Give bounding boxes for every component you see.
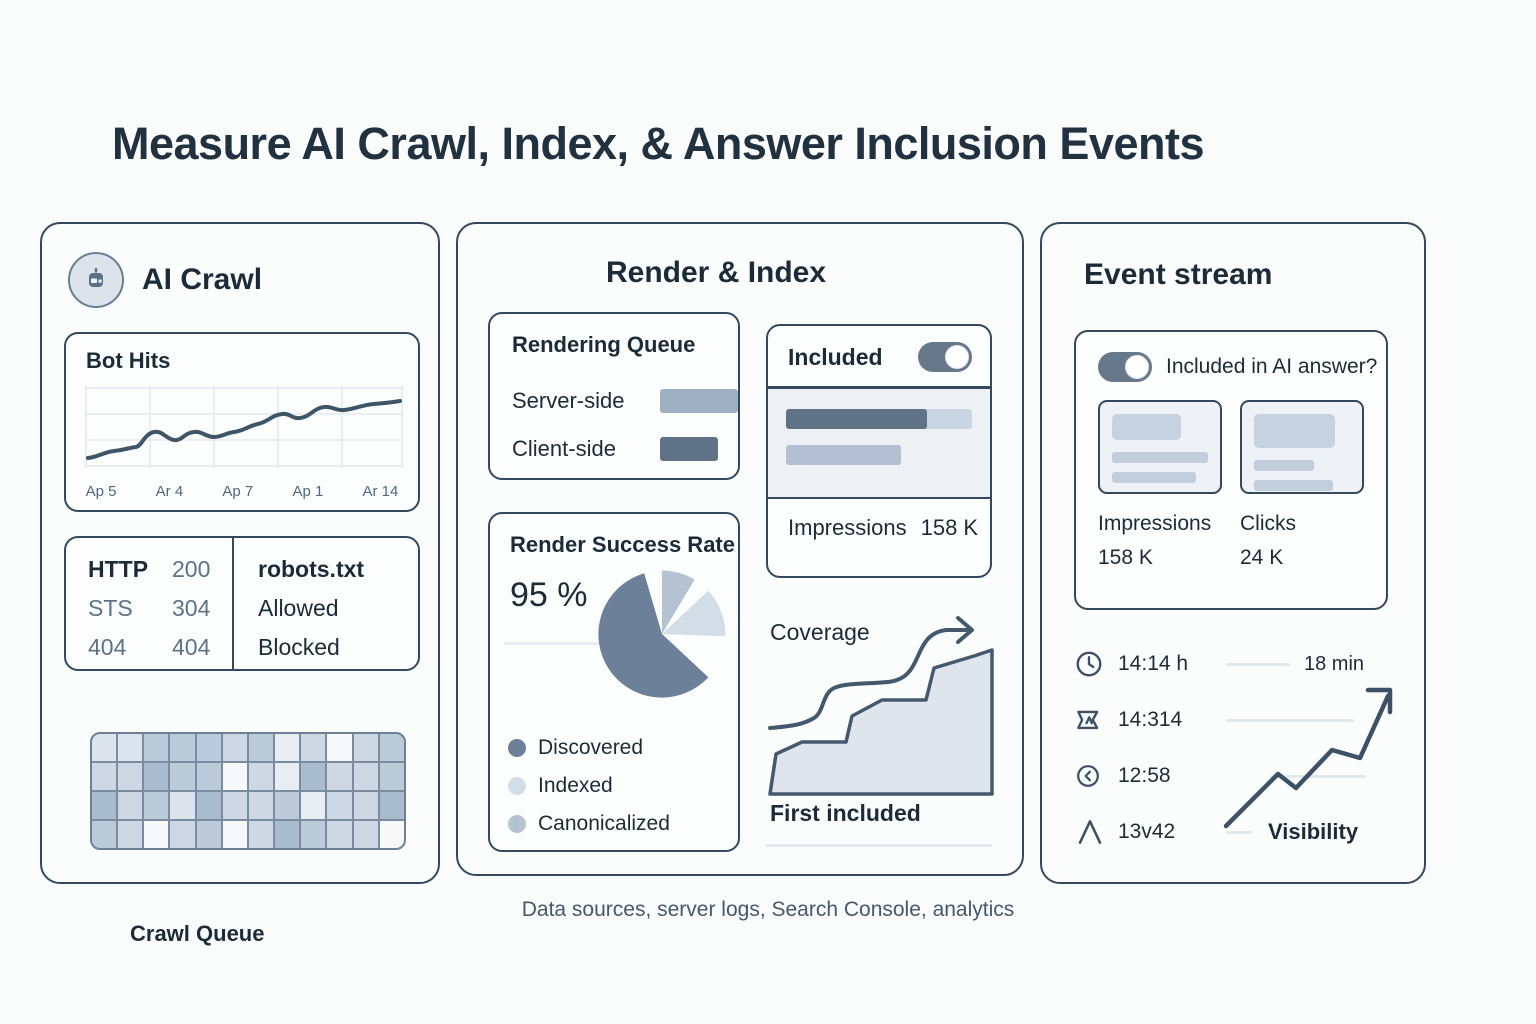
heatmap-cell xyxy=(301,734,325,761)
panel-render-index: Render & Index Rendering Queue Server-si… xyxy=(456,222,1024,876)
heatmap-cell xyxy=(380,763,404,790)
bot-hits-title: Bot Hits xyxy=(86,348,170,374)
divider xyxy=(504,642,604,645)
card-included: Included Impressions 158 K xyxy=(766,324,992,578)
heatmap-cell xyxy=(223,734,247,761)
stat-value: 24 K xyxy=(1240,546,1364,570)
flag-icon xyxy=(1074,705,1118,735)
table-row: STS 304 xyxy=(88,595,232,622)
tile-block xyxy=(1254,414,1335,448)
panel-title-render-index: Render & Index xyxy=(606,256,826,290)
status-key: HTTP xyxy=(88,556,172,583)
heatmap-cell xyxy=(223,792,247,819)
heatmap-cell xyxy=(197,792,221,819)
robots-title: robots.txt xyxy=(258,556,418,583)
heatmap-cell xyxy=(170,821,194,848)
legend-item: Discovered xyxy=(508,736,670,760)
rendering-queue-title: Rendering Queue xyxy=(512,332,695,358)
ai-answer-label: Included in AI answer? xyxy=(1166,355,1377,379)
heatmap-cell xyxy=(327,734,351,761)
heatmap-cell xyxy=(380,792,404,819)
heatmap-cell xyxy=(92,734,116,761)
axis-label: Ap 7 xyxy=(222,483,253,500)
heatmap-cell xyxy=(354,763,378,790)
heatmap-cell xyxy=(92,821,116,848)
heatmap-cell xyxy=(170,734,194,761)
crawl-queue-heatmap xyxy=(90,732,406,850)
heatmap-cell xyxy=(144,734,168,761)
event-time: 13v42 xyxy=(1118,820,1226,844)
legend-dot-canonicalized xyxy=(508,815,526,833)
heatmap-cell xyxy=(144,763,168,790)
status-value: 200 xyxy=(172,556,210,583)
coverage-chart xyxy=(766,608,996,808)
card-rendering-queue: Rendering Queue Server-side Client-side xyxy=(488,312,740,480)
panel-title-ai-crawl: AI Crawl xyxy=(142,263,262,297)
ai-answer-toggle[interactable] xyxy=(1098,352,1152,382)
heatmap-cell xyxy=(275,821,299,848)
rq-label: Client-side xyxy=(512,436,660,462)
heatmap-cell xyxy=(354,821,378,848)
card-ai-answer: Included in AI answer? Impressions 158 xyxy=(1074,330,1388,610)
impressions-tile xyxy=(1098,400,1222,494)
clicks-tile xyxy=(1240,400,1364,494)
render-success-pie xyxy=(596,568,728,700)
heatmap-cell xyxy=(118,821,142,848)
heatmap-cell xyxy=(170,763,194,790)
robots-state: Allowed xyxy=(258,595,418,622)
event-time: 14:14 h xyxy=(1118,652,1226,676)
card-http-status: HTTP 200 STS 304 404 404 robots.txt Allo… xyxy=(64,536,420,671)
bot-hits-chart xyxy=(84,386,404,468)
axis-label: Ap 5 xyxy=(86,483,117,500)
render-success-value: 95 % xyxy=(510,576,588,615)
panel-title-event-stream: Event stream xyxy=(1084,258,1272,292)
status-key: 404 xyxy=(88,634,172,661)
heatmap-cell xyxy=(249,763,273,790)
heatmap-cell xyxy=(249,734,273,761)
skeleton-bar xyxy=(786,445,901,465)
heatmap-cell xyxy=(144,821,168,848)
divider xyxy=(766,844,992,847)
crawl-queue-title: Crawl Queue xyxy=(130,921,264,947)
included-skeleton xyxy=(768,389,990,497)
heatmap-cell xyxy=(92,792,116,819)
letter-a-icon xyxy=(1074,816,1118,848)
axis-label: Ar 4 xyxy=(156,483,184,500)
heatmap-cell xyxy=(327,792,351,819)
robot-icon xyxy=(68,252,124,308)
heatmap-cell xyxy=(275,792,299,819)
toggle-knob xyxy=(945,345,969,369)
status-key: STS xyxy=(88,595,172,622)
heatmap-cell xyxy=(301,763,325,790)
clock-back-icon xyxy=(1074,762,1118,790)
legend-label: Canonicalized xyxy=(538,812,670,836)
card-render-success-rate: Render Success Rate 95 % Discovered Inde… xyxy=(488,512,740,852)
clock-icon xyxy=(1074,649,1118,679)
legend-dot-discovered xyxy=(508,739,526,757)
legend-label: Indexed xyxy=(538,774,613,798)
heatmap-cell xyxy=(301,792,325,819)
infographic-page: Measure AI Crawl, Index, & Answer Inclus… xyxy=(0,0,1536,1024)
tile-line xyxy=(1112,472,1196,483)
heatmap-cell xyxy=(118,792,142,819)
heatmap-cell xyxy=(197,763,221,790)
heatmap-cell xyxy=(170,792,194,819)
heatmap-cell xyxy=(118,734,142,761)
table-row: HTTP 200 xyxy=(88,556,232,583)
progress-fill xyxy=(786,409,927,429)
render-success-title: Render Success Rate xyxy=(510,532,735,558)
heatmap-cell xyxy=(223,821,247,848)
heatmap-cell xyxy=(380,821,404,848)
heatmap-cell xyxy=(249,821,273,848)
heatmap-cell xyxy=(197,734,221,761)
rq-bar-client-side xyxy=(660,437,718,461)
heatmap-cell xyxy=(275,763,299,790)
stat-name: Clicks xyxy=(1240,512,1364,536)
heatmap-cell xyxy=(354,792,378,819)
stat-value: 158 K xyxy=(1098,546,1222,570)
panel-ai-crawl: AI Crawl Bot Hits xyxy=(40,222,440,884)
stat-name: Impressions xyxy=(1098,512,1222,536)
legend-item: Canonicalized xyxy=(508,812,670,836)
first-included-caption: First included xyxy=(770,800,921,827)
tile-block xyxy=(1112,414,1181,440)
heatmap-cell xyxy=(118,763,142,790)
visibility-sparkline xyxy=(1220,664,1400,844)
heatmap-cell xyxy=(275,734,299,761)
heatmap-cell xyxy=(223,763,247,790)
axis-label: Ar 14 xyxy=(363,483,399,500)
legend-dot-indexed xyxy=(508,777,526,795)
tile-line xyxy=(1254,460,1314,471)
heatmap-cell xyxy=(380,734,404,761)
heatmap-cell xyxy=(327,763,351,790)
tile-line xyxy=(1254,480,1333,491)
bot-hits-axis-labels: Ap 5 Ar 4 Ap 7 Ap 1 Ar 14 xyxy=(66,483,418,500)
axis-label: Ap 1 xyxy=(292,483,323,500)
rendering-queue-row: Server-side xyxy=(512,388,738,414)
status-value: 404 xyxy=(172,634,210,661)
toggle-knob xyxy=(1125,355,1149,379)
panel-event-stream: Event stream Included in AI answer? xyxy=(1040,222,1426,884)
event-time: 14:314 xyxy=(1118,708,1226,732)
heatmap-cell xyxy=(354,734,378,761)
rendering-queue-row: Client-side xyxy=(512,436,738,462)
footer-note: Data sources, server logs, Search Consol… xyxy=(0,898,1536,922)
http-status-column: HTTP 200 STS 304 404 404 xyxy=(66,538,234,669)
heatmap-cell xyxy=(249,792,273,819)
heatmap-cell xyxy=(197,821,221,848)
robots-state: Blocked xyxy=(258,634,418,661)
heatmap-cell xyxy=(301,821,325,848)
legend-label: Discovered xyxy=(538,736,643,760)
robots-column: robots.txt Allowed Blocked xyxy=(234,538,418,669)
ai-crawl-header: AI Crawl xyxy=(68,252,262,308)
rq-bar-server-side xyxy=(660,389,738,413)
impressions-stat: Impressions 158 K xyxy=(1098,512,1222,570)
impressions-value: 158 K xyxy=(921,515,979,541)
table-row: 404 404 xyxy=(88,634,232,661)
tile-line xyxy=(1112,452,1208,463)
status-value: 304 xyxy=(172,595,210,622)
page-title: Measure AI Crawl, Index, & Answer Inclus… xyxy=(112,118,1204,170)
legend-item: Indexed xyxy=(508,774,670,798)
heatmap-cell xyxy=(327,821,351,848)
card-bot-hits: Bot Hits Ap 5 Ar 4 xyxy=(64,332,420,512)
included-toggle[interactable] xyxy=(918,342,972,372)
heatmap-cell xyxy=(144,792,168,819)
rq-label: Server-side xyxy=(512,388,660,414)
event-time: 12:58 xyxy=(1118,764,1226,788)
impressions-label: Impressions xyxy=(788,515,907,541)
clicks-stat: Clicks 24 K xyxy=(1240,512,1364,570)
included-label: Included xyxy=(788,344,883,371)
heatmap-cell xyxy=(92,763,116,790)
